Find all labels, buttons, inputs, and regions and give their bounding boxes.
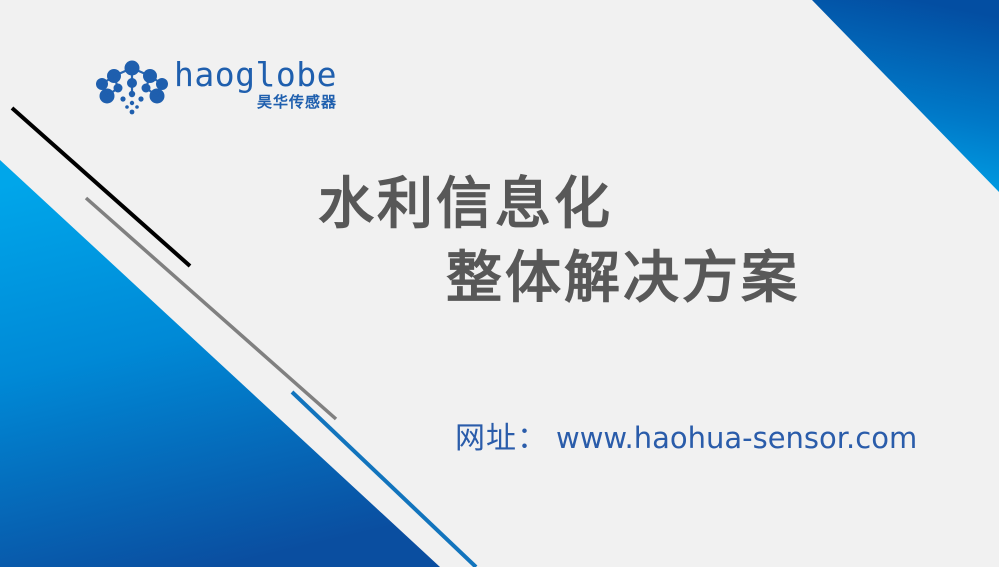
title-line-2: 整体解决方案 — [446, 242, 918, 316]
logo-subtext-chinese: 昊华传感器 — [257, 93, 337, 111]
slide-title: 水利信息化 整体解决方案 — [318, 168, 918, 316]
company-logo[interactable]: haoglobe 昊华传感器 — [96, 58, 321, 120]
title-line-1: 水利信息化 — [318, 168, 918, 242]
website-label: 网址： — [455, 421, 548, 457]
logo-text-block: haoglobe 昊华传感器 — [174, 58, 337, 111]
slide-canvas: haoglobe 昊华传感器 水利信息化 整体解决方案 网址： www.haoh… — [0, 0, 999, 567]
blue-diagonal-line — [292, 392, 476, 567]
gray-diagonal-line — [86, 198, 336, 419]
top-right-blue-triangle — [812, 0, 999, 192]
website-url[interactable]: www.haohua-sensor.com — [556, 420, 917, 456]
logo-wordmark: haoglobe — [174, 58, 337, 92]
black-diagonal-line — [12, 108, 190, 266]
haoglobe-network-dots-logo-icon — [96, 60, 168, 118]
website-line: 网址： www.haohua-sensor.com — [455, 420, 917, 457]
